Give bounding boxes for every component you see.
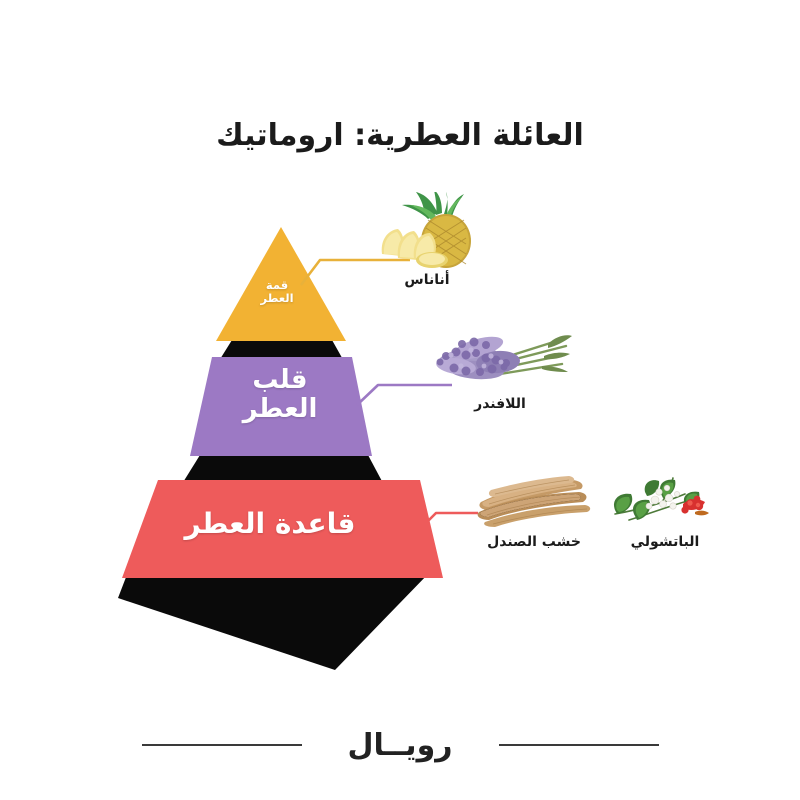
- fragrance-pyramid-infographic: العائلة العطرية: اروماتيك قمة العطر: [0, 0, 800, 800]
- lavender-icon: [426, 322, 574, 394]
- note-caption-patchouli: الباتشولي: [604, 534, 726, 550]
- note-item-patchouli: الباتشولي: [604, 470, 726, 550]
- note-item-pineapple: أناناس: [368, 192, 486, 288]
- tier-shape-top-note: [216, 227, 346, 341]
- footer-rule-right: [499, 744, 659, 746]
- tier-shape-base-note: [122, 480, 443, 578]
- base-tier-shadow: [118, 572, 430, 670]
- note-item-lavender: اللافندر: [425, 322, 575, 412]
- patchouli-icon: [609, 470, 721, 532]
- pyramid-stage: [0, 0, 800, 800]
- tier-shape-heart-note: [190, 357, 372, 456]
- footer-rule-left: [142, 744, 302, 746]
- note-caption-lavender: اللافندر: [425, 396, 575, 412]
- note-item-sandalwood: خشب الصندل: [470, 472, 598, 550]
- pineapple-icon: [372, 192, 482, 270]
- sandalwood-icon: [475, 472, 593, 532]
- note-caption-sandalwood: خشب الصندل: [470, 534, 598, 550]
- footer-brand-bar: رويــال: [0, 700, 800, 790]
- brand-name: رويــال: [348, 728, 453, 763]
- note-caption-pineapple: أناناس: [368, 272, 486, 288]
